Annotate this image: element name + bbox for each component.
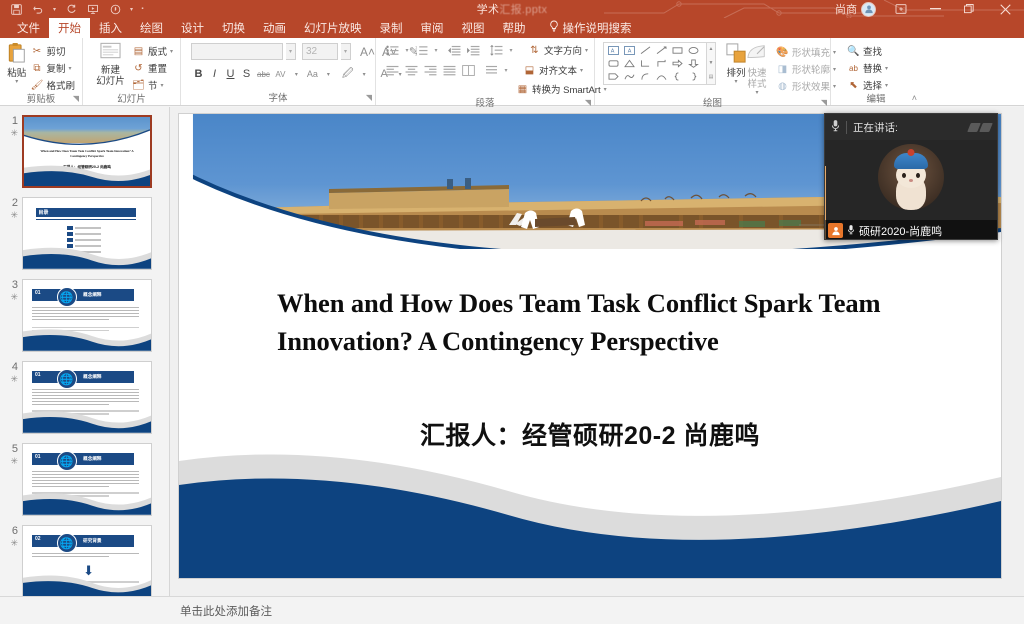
select-caret[interactable]: ▾ [885, 82, 888, 89]
tab-home[interactable]: 开始 [49, 18, 90, 38]
thumb-wave [23, 574, 151, 597]
thumb-wave [24, 164, 150, 186]
participant-avatar [878, 144, 944, 210]
thumb-section-num-5: 01 [35, 454, 41, 460]
paste-dropdown-caret[interactable]: ▾ [15, 79, 18, 86]
new-slide-button[interactable]: 新建 幻灯片 [91, 41, 130, 87]
text-highlight-color-button[interactable]: 🖉 [340, 66, 356, 82]
tab-review[interactable]: 审阅 [412, 18, 453, 38]
thumbnail-number-1: 1 ✳ [0, 115, 22, 188]
thumb-heading-2: 目录 [38, 209, 48, 216]
arrange-label: 排列 [726, 68, 745, 79]
increase-indent-icon[interactable] [465, 43, 482, 58]
underline-button[interactable]: U [223, 66, 238, 82]
shapes-gallery-scroll[interactable]: ▲ ▼ ▤ [707, 42, 716, 85]
numbering-caret[interactable]: ▾ [432, 43, 440, 58]
slide-thumbnail-panel[interactable]: 1 ✳ When and How Does Team Task Conflict… [0, 107, 170, 624]
thumb-section-num-3: 01 [35, 290, 41, 296]
tab-design[interactable]: 设计 [172, 18, 213, 38]
font-size-input[interactable]: 32 [302, 43, 338, 60]
replace-icon: ab [847, 64, 860, 73]
thumbnail-number-5: 5 ✳ [0, 443, 22, 516]
curve-shape-icon[interactable] [637, 70, 653, 83]
select-button[interactable]: ⬉ 选择 ▾ [845, 77, 890, 93]
new-slide-icon [100, 42, 121, 65]
text-direction-label: 文字方向 [544, 43, 582, 57]
section-icon: 🗂 [132, 80, 145, 91]
globe-icon: 🌐 [57, 369, 77, 389]
document-title-obscured: 汇报.pptx [499, 1, 547, 17]
layout-label: 版式 [148, 44, 167, 58]
document-title-visible: 学术 [477, 1, 500, 17]
vertical-textbox-icon[interactable]: A [621, 44, 637, 57]
smartart-icon: ▦ [516, 84, 529, 95]
avatar[interactable] [861, 2, 876, 17]
thumb-num-text: 4 [12, 361, 18, 373]
new-slide-label-line2: 幻灯片 [96, 76, 125, 87]
lightbulb-icon [549, 20, 559, 35]
align-center-icon[interactable] [403, 63, 420, 78]
quick-styles-caret[interactable]: ▾ [755, 90, 758, 97]
thumbnail-slide-2[interactable]: 2 ✳ 目录 [0, 197, 170, 270]
participant-mic-icon [847, 224, 855, 238]
shape-outline-label: 形状轮廓 [792, 62, 830, 76]
strikethrough-button[interactable]: abc [255, 66, 272, 82]
bold-button[interactable]: B [191, 66, 206, 82]
shape-fill-label: 形状填充 [792, 45, 830, 59]
shapes-scroll-more-icon[interactable]: ▤ [707, 71, 715, 84]
ribbon-tabs[interactable]: 文件 开始 插入 绘图 设计 切换 动画 幻灯片放映 录制 审阅 视图 帮助 操… [0, 18, 1024, 38]
textbox-shape-icon[interactable]: A [605, 44, 621, 57]
smartart-label: 转换为 SmartArt [532, 82, 601, 96]
change-case-button[interactable]: Aa [305, 66, 320, 82]
line-shape-icon[interactable] [637, 44, 653, 57]
format-painter-label: 格式刷 [46, 78, 75, 92]
replace-button[interactable]: ab 替换 ▾ [845, 60, 890, 76]
paste-button[interactable]: 粘贴 ▾ [5, 41, 28, 86]
align-text-vertical-icon[interactable] [483, 63, 500, 78]
ribbon-group-editing: 🔍 查找 ab 替换 ▾ ⬉ 选择 ▾ 编辑 [831, 38, 921, 105]
layout-icon: ▤ [132, 46, 145, 57]
character-spacing-button[interactable]: AV [273, 66, 288, 82]
layout-button[interactable]: ▤ 版式 ▾ [130, 43, 175, 59]
shape-effects-button[interactable]: ◍ 形状效果 ▾ [774, 78, 838, 94]
thumb-heading-bar: 01 概念阐释 🌐 [32, 453, 134, 465]
new-slide-label-line1: 新建 [101, 65, 120, 76]
ribbon-group-clipboard: 粘贴 ▾ ✂ 剪切 ⧉ 复制 ▾ 🖌 格式刷 [0, 38, 83, 105]
thumbnail-slide-4[interactable]: 4 ✳ 01 概念阐释 🌐 [0, 361, 170, 434]
maximize-restore-button[interactable] [952, 0, 986, 18]
audio-wave-icon [969, 123, 991, 132]
italic-button[interactable]: I [207, 66, 222, 82]
slide-bottom-waves [179, 443, 1001, 578]
format-painter-button[interactable]: 🖌 格式刷 [28, 77, 77, 93]
cat-eye-left [902, 173, 906, 178]
zoom-video-body[interactable]: 硕研2020-尚鹿鸣 [825, 140, 997, 240]
thumbnail-canvas-4[interactable]: 01 概念阐释 🌐 [22, 361, 152, 434]
thumb-wave [23, 492, 151, 515]
text-direction-caret[interactable]: ▾ [585, 47, 588, 54]
arrange-caret[interactable]: ▾ [734, 79, 737, 86]
font-name-dropdown-caret[interactable]: ▾ [286, 43, 296, 60]
align-text-caret[interactable]: ▾ [580, 67, 583, 74]
select-label: 选择 [863, 78, 882, 92]
rectangle-shape-icon[interactable] [669, 44, 685, 57]
globe-icon: 🌐 [57, 451, 77, 471]
pentagon-shape-icon[interactable] [605, 70, 621, 83]
close-button[interactable] [986, 0, 1024, 18]
paste-label: 粘贴 [7, 68, 26, 79]
paste-icon [7, 42, 27, 68]
text-shadow-button[interactable]: S [239, 66, 254, 82]
shape-outline-button[interactable]: ◨ 形状轮廓 ▾ [774, 61, 838, 77]
thumb-section-num-6: 02 [35, 536, 41, 542]
thumb-wave [23, 246, 151, 269]
globe-icon: 🌐 [57, 287, 77, 307]
clipboard-dialog-launcher[interactable]: ◥ [73, 92, 79, 105]
thumb-body-lines [32, 471, 140, 489]
shape-fill-button[interactable]: 🎨 形状填充 ▾ [774, 44, 838, 60]
thumb-star-icon: ✳ [0, 538, 18, 549]
thumb-num-text: 6 [12, 525, 18, 537]
tab-insert[interactable]: 插入 [90, 18, 131, 38]
cat-nose [909, 179, 913, 182]
globe-icon: 🌐 [57, 533, 77, 553]
cat-eye-right [916, 173, 920, 178]
thumb-num-text: 5 [12, 443, 18, 455]
status-bar-left [0, 596, 170, 624]
thumb-wave [23, 410, 151, 433]
justify-icon[interactable] [441, 63, 458, 78]
thumb-wave [23, 328, 151, 351]
freeform-shape-icon[interactable] [621, 70, 637, 83]
ribbon-group-font: ▾ 32 ▾ A˄ A˅ ✎ B I U S abc AV ▾ Aa ▾ [181, 38, 376, 105]
tab-view[interactable]: 视图 [453, 18, 494, 38]
notes-pane[interactable]: 单击此处添加备注 [170, 596, 1024, 624]
arrow-shape-icon[interactable] [653, 44, 669, 57]
title-bar: ▾ ▾ ▪ 学术汇报.pptx 尚商 [0, 0, 1024, 18]
copy-dropdown-caret[interactable]: ▾ [69, 65, 72, 72]
thumb-num-text: 3 [12, 279, 18, 291]
thumb-section-title-5: 概念阐释 [83, 456, 101, 462]
tell-me-search[interactable]: 操作说明搜索 [535, 18, 641, 38]
reset-button[interactable]: ↺ 重置 [130, 60, 175, 76]
shapes-scroll-up-icon[interactable]: ▲ [707, 43, 715, 56]
editing-group-label: 编辑 [831, 93, 921, 106]
tab-transitions[interactable]: 切换 [213, 18, 254, 38]
align-right-icon[interactable] [422, 63, 439, 78]
triangle-shape-icon[interactable] [621, 57, 637, 70]
thumb-arc [24, 117, 150, 150]
font-group-label-text: 字体 [268, 93, 287, 104]
thumbnail-number-6: 6 ✳ [0, 525, 22, 598]
change-case-caret[interactable]: ▾ [321, 66, 336, 82]
thumbnail-canvas-5[interactable]: 01 概念阐释 🌐 [22, 443, 152, 516]
section-button[interactable]: 🗂 节 ▾ [130, 77, 175, 93]
left-brace-icon[interactable] [669, 70, 685, 83]
thumb-heading-rule [36, 219, 136, 220]
replace-caret[interactable]: ▾ [885, 65, 888, 72]
thumb-section-num-4: 01 [35, 372, 41, 378]
thumbnail-number-3: 3 ✳ [0, 279, 22, 352]
tell-me-label: 操作说明搜索 [563, 20, 632, 36]
svg-text:3: 3 [415, 52, 417, 55]
powerpoint-window: ▾ ▾ ▪ 学术汇报.pptx 尚商 [0, 0, 1024, 624]
shape-outline-icon: ◨ [776, 64, 789, 75]
zoom-panel-header[interactable]: 正在讲话: [825, 114, 997, 140]
text-direction-button[interactable]: ⇅ 文字方向 ▾ [526, 42, 590, 58]
thumb-star-icon: ✳ [0, 210, 18, 221]
shape-effects-label: 形状效果 [792, 79, 830, 93]
thumbnail-canvas-1[interactable]: When and How Does Team Task Conflict Spa… [22, 115, 152, 188]
align-text-icon: ⬓ [523, 65, 536, 76]
tab-draw[interactable]: 绘图 [131, 18, 172, 38]
thumb-star-icon: ✳ [0, 128, 18, 139]
thumbnail-canvas-2[interactable]: 目录 [22, 197, 152, 270]
copy-button[interactable]: ⧉ 复制 ▾ [28, 60, 77, 76]
cat-hat [894, 153, 928, 169]
tab-record[interactable]: 录制 [371, 18, 412, 38]
slides-group-label-text: 幻灯片 [117, 94, 146, 105]
thumb-section-title-4: 概念阐释 [83, 374, 101, 380]
ribbon: 粘贴 ▾ ✂ 剪切 ⧉ 复制 ▾ 🖌 格式刷 [0, 38, 1024, 106]
thumb-body-lines [32, 307, 140, 322]
thumb-star-icon: ✳ [0, 292, 18, 303]
quick-styles-icon [746, 43, 768, 68]
copy-icon: ⧉ [30, 63, 43, 74]
character-spacing-caret[interactable]: ▾ [289, 66, 304, 82]
align-text-button[interactable]: ⬓ 对齐文本 ▾ [521, 62, 585, 78]
find-button[interactable]: 🔍 查找 [845, 43, 890, 59]
clipboard-group-label: 剪贴板 ◥ [0, 93, 82, 106]
thumb-heading-bar: 01 概念阐释 🌐 [32, 289, 134, 301]
slide-title-text[interactable]: When and How Does Team Task Conflict Spa… [277, 284, 937, 360]
bullets-icon[interactable] [384, 43, 401, 58]
numbering-icon[interactable]: 123 [413, 43, 430, 58]
reset-icon: ↺ [132, 63, 145, 74]
reset-label: 重置 [148, 61, 167, 75]
svg-text:A: A [627, 48, 631, 54]
increase-font-size-button[interactable]: A˄ [358, 44, 377, 60]
window-controls: 尚商 [835, 0, 1024, 18]
ribbon-display-options-button[interactable] [884, 0, 918, 18]
thumb-heading-bar [36, 208, 136, 217]
editing-group-label-text: 编辑 [866, 94, 885, 105]
rounded-rect-shape-icon[interactable] [605, 57, 621, 70]
copy-label: 复制 [46, 61, 65, 75]
thumbnail-number-4: 4 ✳ [0, 361, 22, 434]
shape-fill-icon: 🎨 [776, 47, 789, 58]
zoom-video-panel[interactable]: 正在讲话: 硕研2020-尚鹿鸣 [824, 113, 998, 240]
slides-group-label: 幻灯片 [83, 93, 180, 106]
font-size-dropdown-caret[interactable]: ▾ [341, 43, 351, 60]
thumbnail-slide-6[interactable]: 6 ✳ 02 研究背景 🌐 ⬇ [0, 525, 170, 598]
thumbnail-slide-3[interactable]: 3 ✳ 01 概念阐释 🌐 [0, 279, 170, 352]
bullets-caret[interactable]: ▾ [403, 43, 411, 58]
cursor-icon: ⬉ [847, 80, 860, 91]
minimize-button[interactable] [918, 0, 952, 18]
font-group-label: 字体 ◥ [181, 92, 375, 105]
notes-placeholder: 单击此处添加备注 [180, 603, 272, 619]
down-arrow-shape-icon[interactable] [685, 57, 701, 70]
line-spacing-icon[interactable] [488, 43, 505, 58]
participant-name-bar: 硕研2020-尚鹿鸣 [825, 220, 997, 240]
thumbnail-number-2: 2 ✳ [0, 197, 22, 270]
section-label: 节 [148, 78, 158, 92]
thumb-section-title-6: 研究背景 [83, 538, 101, 544]
thumb-title-1: When and How Does Team Task Conflict Spa… [34, 149, 140, 159]
shape-effects-icon: ◍ [776, 81, 789, 92]
corner-shape-icon[interactable] [653, 57, 669, 70]
ribbon-group-slides: 新建 幻灯片 ▤ 版式 ▾ ↺ 重置 🗂 节 [83, 38, 181, 105]
right-brace-icon[interactable] [685, 70, 701, 83]
account-name[interactable]: 尚商 [835, 1, 861, 17]
align-text-vertical-caret[interactable]: ▾ [502, 63, 510, 78]
thumb-body-lines [32, 553, 140, 559]
participant-badge-icon [828, 223, 843, 238]
align-text-label: 对齐文本 [539, 63, 577, 77]
thumb-body-lines [32, 389, 140, 407]
find-label: 查找 [863, 44, 882, 58]
microphone-icon[interactable] [831, 119, 840, 135]
thumbnail-canvas-6[interactable]: 02 研究背景 🌐 ⬇ [22, 525, 152, 598]
svg-text:A: A [610, 48, 614, 54]
layout-dropdown-caret[interactable]: ▾ [170, 48, 173, 55]
tab-animations[interactable]: 动画 [254, 18, 295, 38]
arrange-button[interactable]: 排列 ▾ [726, 42, 746, 86]
text-highlight-caret[interactable]: ▾ [357, 66, 372, 82]
font-name-input[interactable] [191, 43, 283, 60]
tab-help[interactable]: 帮助 [494, 18, 535, 38]
thumb-heading-bar: 01 概念阐释 🌐 [32, 371, 134, 383]
text-direction-icon: ⇅ [528, 45, 541, 56]
cut-label: 剪切 [46, 44, 65, 58]
scissors-icon: ✂ [30, 46, 43, 57]
right-arrow-shape-icon[interactable] [669, 57, 685, 70]
paintbrush-icon: 🖌 [30, 80, 43, 91]
arc-shape-icon[interactable] [653, 70, 669, 83]
elbow-connector-icon[interactable] [637, 57, 653, 70]
quick-styles-label: 快速样式 [746, 68, 768, 90]
thumb-star-icon: ✳ [0, 456, 18, 467]
collapse-ribbon-button[interactable]: ˄ [912, 93, 917, 103]
thumb-num-text: 1 [12, 115, 18, 127]
arrange-icon [726, 43, 746, 68]
cut-button[interactable]: ✂ 剪切 [28, 43, 77, 59]
tab-file[interactable]: 文件 [8, 18, 49, 38]
speaking-status-label: 正在讲话: [853, 120, 898, 135]
thumb-heading-bar: 02 研究背景 🌐 [32, 535, 134, 547]
font-dialog-launcher[interactable]: ◥ [366, 91, 372, 104]
columns-icon[interactable] [460, 63, 477, 78]
thumbnail-canvas-3[interactable]: 01 概念阐释 🌐 [22, 279, 152, 352]
line-spacing-caret[interactable]: ▾ [507, 43, 515, 58]
decrease-indent-icon[interactable] [446, 43, 463, 58]
shapes-scroll-down-icon[interactable]: ▼ [707, 57, 715, 70]
oval-shape-icon[interactable] [685, 44, 701, 57]
ribbon-group-paragraph: ▾ 123 ▾ ▾ ⇅ 文字方向 ▾ [376, 38, 595, 105]
align-left-icon[interactable] [384, 63, 401, 78]
replace-label: 替换 [863, 61, 882, 75]
quick-styles-button[interactable]: 快速样式 ▾ [746, 42, 768, 97]
thumb-section-title-3: 概念阐释 [83, 292, 101, 298]
thumb-num-text: 2 [12, 197, 18, 209]
tab-slideshow[interactable]: 幻灯片放映 [295, 18, 371, 38]
header-divider [846, 121, 847, 134]
thumbnail-slide-1[interactable]: 1 ✳ When and How Does Team Task Conflict… [0, 115, 170, 188]
ribbon-group-drawing: A A [595, 38, 831, 105]
search-icon: 🔍 [847, 46, 860, 57]
clipboard-group-label-text: 剪贴板 [27, 94, 56, 105]
thumbnail-slide-5[interactable]: 5 ✳ 01 概念阐释 🌐 [0, 443, 170, 516]
thumb-star-icon: ✳ [0, 374, 18, 385]
participant-name: 硕研2020-尚鹿鸣 [859, 223, 942, 239]
shapes-gallery[interactable]: A A [603, 42, 707, 85]
section-dropdown-caret[interactable]: ▾ [160, 82, 163, 89]
